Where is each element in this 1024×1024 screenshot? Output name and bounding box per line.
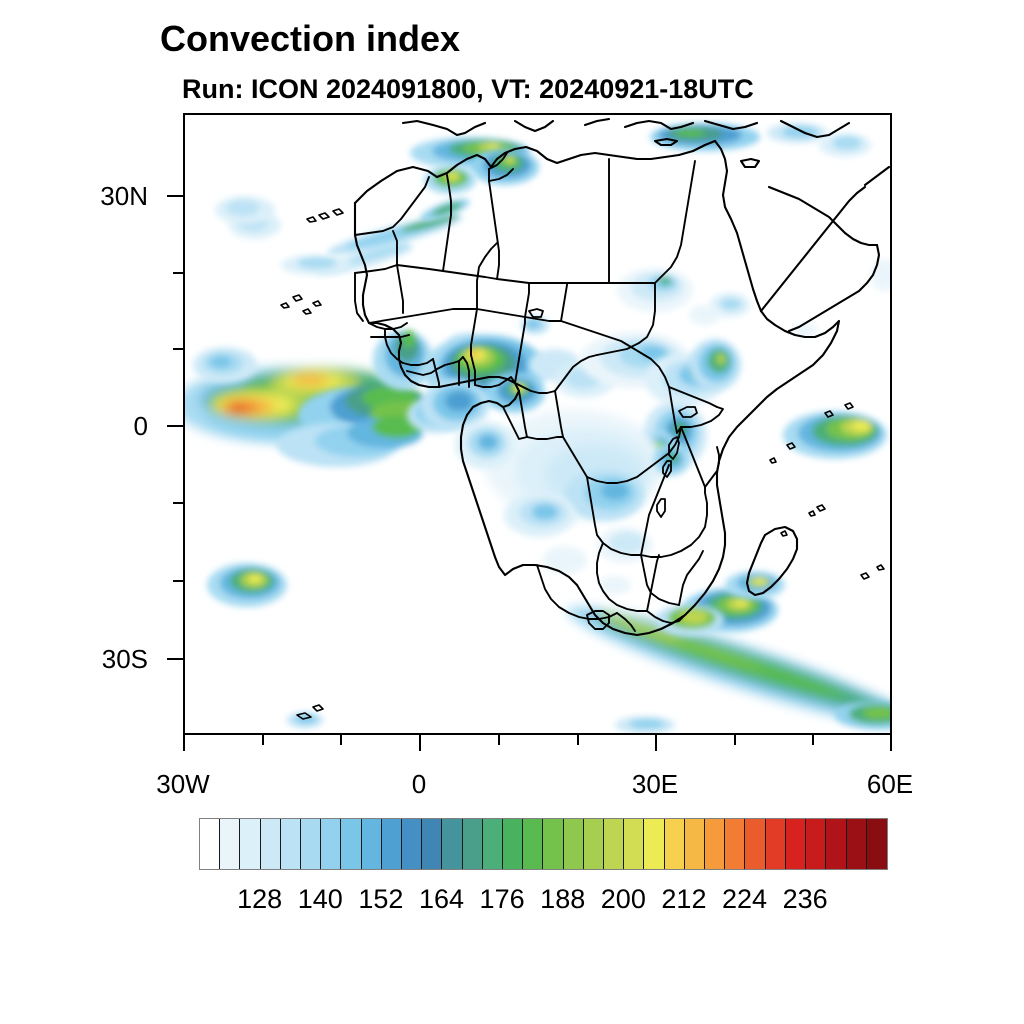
x-tick-10w: [340, 735, 342, 745]
figure-root: Convection index Run: ICON 2024091800, V…: [0, 0, 1024, 1024]
colorbar-cell: [463, 819, 483, 869]
colorbar-cell: [442, 819, 462, 869]
colorbar-cell: [483, 819, 503, 869]
colorbar-cell: [725, 819, 745, 869]
y-tick-30s: [167, 658, 183, 660]
colorbar-cell: [362, 819, 382, 869]
colorbar[interactable]: [199, 818, 888, 870]
colorbar-cell: [503, 819, 523, 869]
y-axis-label-0: 0: [58, 411, 148, 442]
y-tick-20s: [173, 580, 183, 582]
page-title: Convection index: [160, 18, 460, 60]
x-axis-label-0: 0: [359, 769, 479, 800]
x-tick-30w: [183, 735, 185, 751]
map-plot-area: [183, 113, 892, 735]
colorbar-cell: [200, 819, 220, 869]
colorbar-cell: [422, 819, 442, 869]
colorbar-cell: [685, 819, 705, 869]
colorbar-cell: [705, 819, 725, 869]
x-tick-20w: [262, 735, 264, 745]
y-tick-20n: [173, 272, 183, 274]
x-tick-10e: [498, 735, 500, 745]
colorbar-cell: [281, 819, 301, 869]
colorbar-cell: [745, 819, 765, 869]
y-tick-10s: [173, 502, 183, 504]
colorbar-cell: [867, 819, 887, 869]
colorbar-cell: [341, 819, 361, 869]
colorbar-cell: [786, 819, 806, 869]
y-tick-0: [167, 425, 183, 427]
colorbar-cell: [382, 819, 402, 869]
colorbar-cell: [402, 819, 422, 869]
y-axis-label-30s: 30S: [58, 644, 148, 675]
x-tick-0: [419, 735, 421, 751]
colorbar-cell: [847, 819, 867, 869]
colorbar-cell: [301, 819, 321, 869]
colorbar-cell: [240, 819, 260, 869]
colorbar-cell: [523, 819, 543, 869]
colorbar-cell: [543, 819, 563, 869]
y-axis-label-30n: 30N: [58, 181, 148, 212]
colorbar-cell: [806, 819, 826, 869]
colorbar-cell: [826, 819, 846, 869]
y-tick-30n: [167, 195, 183, 197]
colorbar-cell: [321, 819, 341, 869]
y-tick-10n: [173, 348, 183, 350]
x-tick-20e: [577, 735, 579, 745]
x-axis-label-60e: 60E: [830, 769, 950, 800]
colorbar-cell: [220, 819, 240, 869]
figure-subtitle: Run: ICON 2024091800, VT: 20240921-18UTC: [182, 74, 754, 105]
colorbar-tick-label: 236: [765, 884, 845, 915]
map-canvas: [185, 115, 890, 733]
colorbar-cell: [584, 819, 604, 869]
x-tick-50e: [812, 735, 814, 745]
colorbar-cell: [624, 819, 644, 869]
colorbar-cell: [766, 819, 786, 869]
x-tick-60e: [890, 735, 892, 751]
x-axis-label-30w: 30W: [123, 769, 243, 800]
colorbar-cell: [665, 819, 685, 869]
colorbar-cell: [261, 819, 281, 869]
colorbar-cell: [644, 819, 664, 869]
colorbar-cell: [564, 819, 584, 869]
x-tick-40e: [734, 735, 736, 745]
x-tick-30e: [655, 735, 657, 751]
x-axis-label-30e: 30E: [595, 769, 715, 800]
colorbar-cell: [604, 819, 624, 869]
